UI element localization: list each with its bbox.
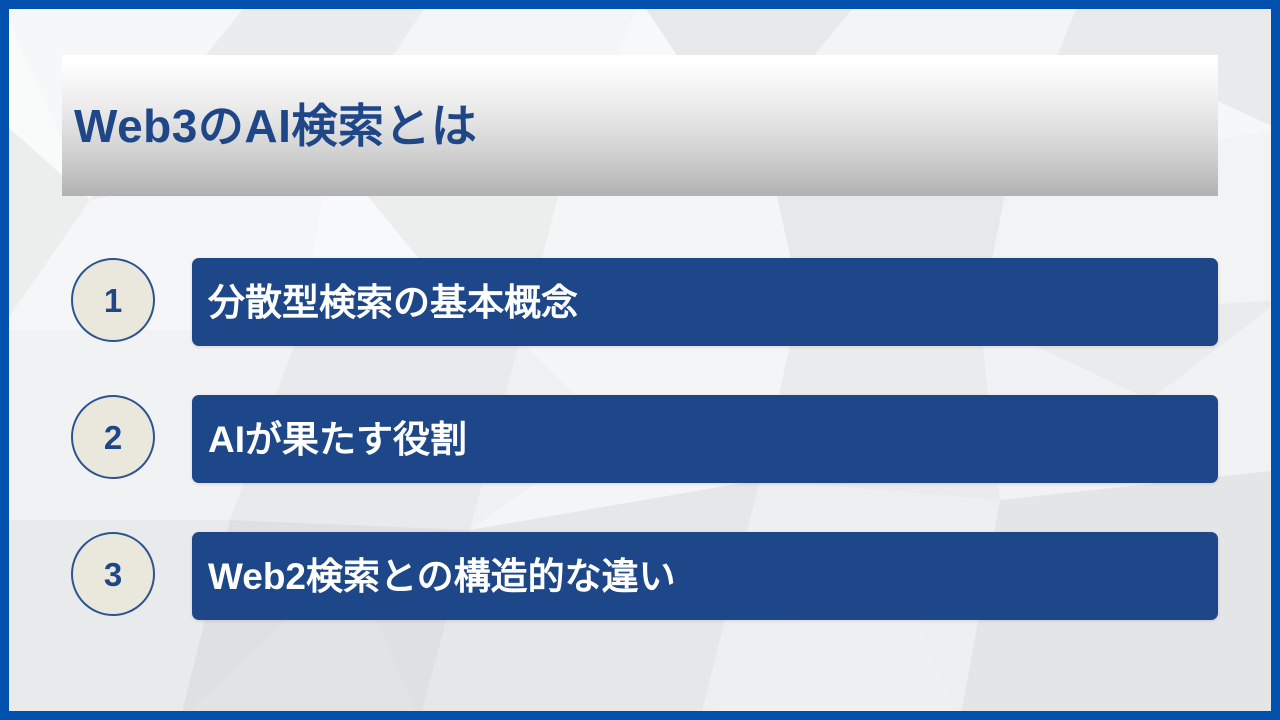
list-item-number: 3 [104,558,122,591]
list-item[interactable]: 1 分散型検索の基本概念 [62,258,1218,346]
list-item-label: 分散型検索の基本概念 [192,284,578,321]
list-item-number-badge: 2 [71,395,155,479]
list-item-label: AIが果たす役割 [192,421,467,458]
frame-border-left [0,0,9,720]
slide-title-bar: Web3のAI検索とは [62,55,1218,196]
list-item-bar[interactable]: 分散型検索の基本概念 [192,258,1218,346]
slide-canvas: Web3のAI検索とは 1 分散型検索の基本概念 2 AIが果たす役割 3 We… [0,0,1280,720]
list-item[interactable]: 2 AIが果たす役割 [62,395,1218,483]
frame-border-top [0,0,1280,9]
list-item-number-badge: 3 [71,532,155,616]
list-item[interactable]: 3 Web2検索との構造的な違い [62,532,1218,620]
list-item-number: 1 [104,284,122,317]
frame-border-bottom [0,711,1280,720]
list-item-label: Web2検索との構造的な違い [192,558,676,595]
frame-border-right [1271,0,1280,720]
list-item-number-badge: 1 [71,258,155,342]
list-item-bar[interactable]: AIが果たす役割 [192,395,1218,483]
page-title: Web3のAI検索とは [62,103,477,149]
list-item-number: 2 [104,421,122,454]
list-item-bar[interactable]: Web2検索との構造的な違い [192,532,1218,620]
